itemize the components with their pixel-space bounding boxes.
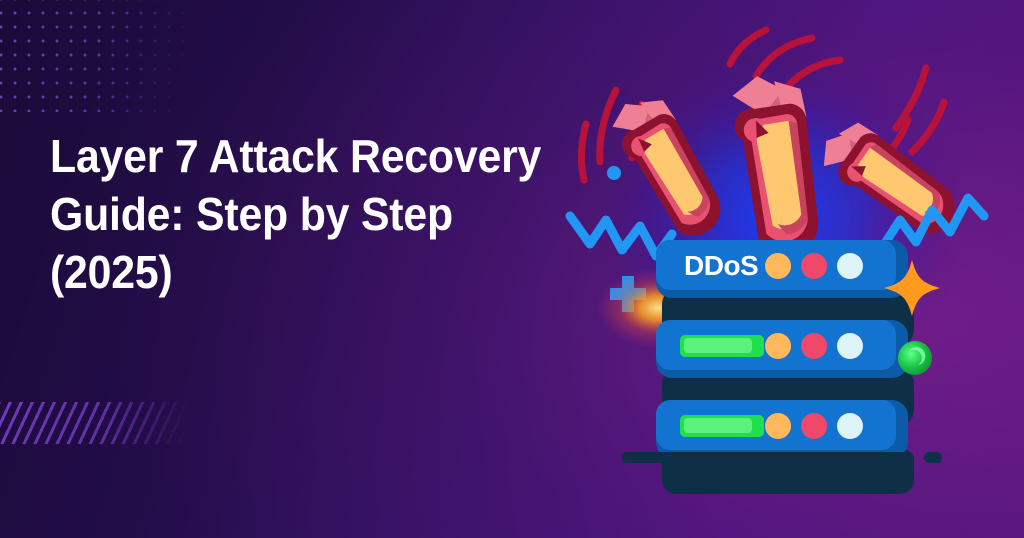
diagonal-stripes-pattern xyxy=(0,402,190,444)
server-stack: DDoS xyxy=(622,240,942,494)
ddos-article-banner: Layer 7 Attack Recovery Guide: Step by S… xyxy=(0,0,1024,538)
status-light-white xyxy=(837,253,863,279)
status-light-amber xyxy=(765,253,791,279)
blue-dot-decoration xyxy=(607,166,621,180)
status-light-red xyxy=(801,333,827,359)
status-light-red xyxy=(801,253,827,279)
green-circle-decoration xyxy=(898,341,932,375)
status-light-white xyxy=(837,333,863,359)
status-light-red xyxy=(801,413,827,439)
ddos-attack-illustration: DDoS xyxy=(560,20,1024,490)
status-light-amber xyxy=(765,413,791,439)
server-unit-3 xyxy=(656,400,914,494)
server-unit-1-label: DDoS xyxy=(684,250,758,281)
server-base-dash xyxy=(924,452,942,463)
status-light-white xyxy=(837,413,863,439)
server-base-bar xyxy=(622,452,914,463)
status-light-amber xyxy=(765,333,791,359)
dot-grid-pattern xyxy=(0,0,209,112)
page-title: Layer 7 Attack Recovery Guide: Step by S… xyxy=(50,127,543,301)
